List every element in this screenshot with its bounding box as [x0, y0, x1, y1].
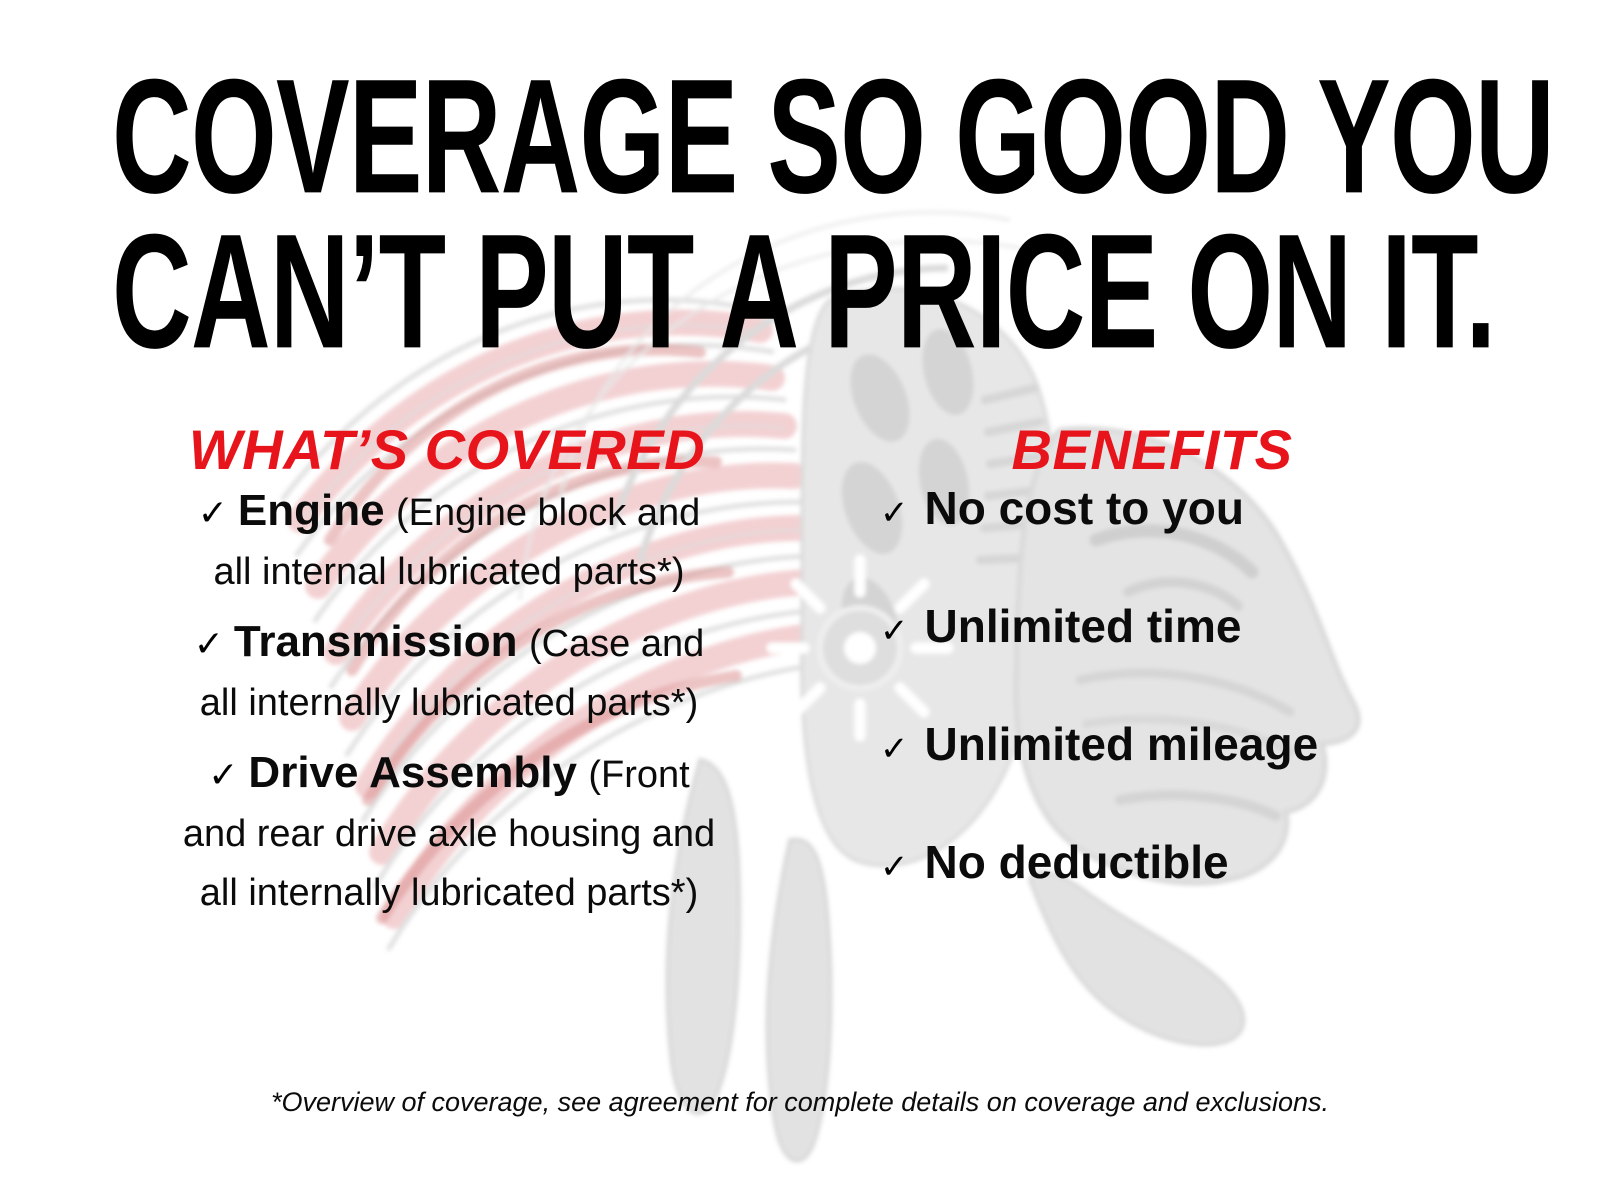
covered-detail-line-1: (Engine block and [396, 492, 700, 534]
check-icon: ✓ [880, 850, 909, 884]
benefit-label: No cost to you [925, 482, 1244, 534]
check-icon: ✓ [880, 732, 909, 766]
covered-term: Drive Assembly [248, 748, 577, 797]
covered-heading: WHAT’S COVERED [108, 418, 808, 482]
headline: COVERAGE SO GOOD YOU CAN’T PUT A PRICE O… [112, 46, 1512, 356]
benefits-heading: BENEFITS [880, 418, 1520, 482]
check-icon: ✓ [198, 492, 228, 533]
covered-term: Engine [238, 486, 385, 535]
headline-line-2: CAN’T PUT A PRICE ON IT. [112, 201, 1232, 384]
covered-detail-line-2: all internal lubricated parts*) [213, 551, 684, 593]
covered-detail-line-2: all internally lubricated parts*) [200, 682, 698, 724]
check-icon: ✓ [208, 754, 238, 795]
poster-canvas: COVERAGE SO GOOD YOU CAN’T PUT A PRICE O… [0, 0, 1600, 1200]
covered-column: WHAT’S COVERED ✓Engine (Engine block and… [108, 418, 808, 934]
benefit-label: Unlimited time [925, 600, 1242, 652]
check-icon: ✓ [880, 496, 909, 530]
benefit-label: Unlimited mileage [925, 718, 1319, 770]
footnote: *Overview of coverage, see agreement for… [0, 1085, 1600, 1119]
benefit-item-unlimited-mileage: ✓ Unlimited mileage [880, 718, 1520, 770]
benefit-item-unlimited-time: ✓ Unlimited time [880, 600, 1520, 652]
benefits-list: ✓ No cost to you ✓ Unlimited time ✓ Unli… [880, 482, 1520, 888]
check-icon: ✓ [194, 623, 224, 664]
covered-item-drive-assembly: ✓Drive Assembly (Front and rear drive ax… [108, 744, 808, 922]
covered-detail-line-3: all internally lubricated parts*) [200, 872, 698, 914]
benefit-item-no-deductible: ✓ No deductible [880, 836, 1520, 888]
benefits-column: BENEFITS ✓ No cost to you ✓ Unlimited ti… [880, 418, 1520, 954]
covered-detail-line-2: and rear drive axle housing and [183, 813, 715, 855]
covered-item-transmission: ✓Transmission (Case and all internally l… [108, 613, 808, 732]
benefit-label: No deductible [925, 836, 1229, 888]
covered-term: Transmission [234, 617, 518, 666]
check-icon: ✓ [880, 614, 909, 648]
covered-detail-line-1: (Case and [529, 623, 704, 665]
covered-list: ✓Engine (Engine block and all internal l… [108, 482, 808, 922]
covered-detail-line-1: (Front [588, 754, 689, 796]
covered-item-engine: ✓Engine (Engine block and all internal l… [108, 482, 808, 601]
benefit-item-no-cost: ✓ No cost to you [880, 482, 1520, 534]
